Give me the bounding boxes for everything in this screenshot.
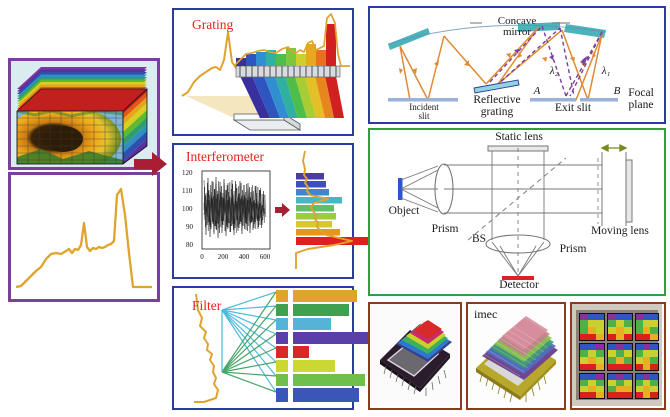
- svg-text:0: 0: [200, 253, 204, 261]
- grating-label: Grating: [192, 17, 233, 33]
- interferometer-label: Interferometer: [186, 149, 264, 165]
- incident-slit-label: Incident slit: [394, 103, 454, 121]
- imec-caption: imec: [474, 308, 514, 320]
- svg-text:80: 80: [186, 241, 194, 249]
- interferometer-optics-panel: Static lens Object Prism BS Moving lens …: [368, 128, 666, 296]
- spectral-signature-panel: [8, 172, 160, 302]
- grating-method-panel: Grating: [172, 8, 354, 136]
- exit-slit-label: Exit slit: [542, 103, 604, 115]
- moving-lens-element: [598, 152, 632, 226]
- transform-arrow: [275, 203, 290, 217]
- svg-text:120: 120: [182, 169, 193, 177]
- sensor-photo-1: [368, 302, 462, 410]
- mosaic-filter-array-photo: [572, 304, 662, 406]
- grating-element: [236, 66, 340, 77]
- static-lens-element: [488, 146, 548, 240]
- filter-method-panel: Filter: [172, 286, 354, 410]
- orange-ray-paths: [400, 28, 602, 100]
- mirror-leader-right: [552, 21, 570, 25]
- movement-arrow: [602, 145, 626, 151]
- concave-grating-spectrometer-panel: Concave mirror Incident slit Reflective …: [368, 6, 666, 124]
- concave-mirror-label: Concave mirror: [482, 16, 552, 38]
- filter-fan-lines-upper: [222, 292, 276, 392]
- mirror-leader-left: [470, 21, 482, 25]
- svg-text:100: 100: [182, 205, 193, 213]
- detector-label: Detector: [486, 280, 552, 292]
- lvf-sensor-photo: [370, 304, 458, 406]
- prism-left-label: Prism: [422, 224, 468, 236]
- svg-text:90: 90: [186, 223, 194, 231]
- object-label: Object: [378, 206, 430, 218]
- lambda-2-label: λ₂: [546, 66, 562, 77]
- spectral-signature-curve: [11, 175, 157, 299]
- svg-text:200: 200: [218, 253, 229, 261]
- binned-spectrum: [236, 24, 336, 66]
- beamsplitter-element: [468, 158, 566, 240]
- sensor-photo-2: imec: [466, 302, 566, 410]
- mosaic-tiles: [579, 313, 659, 399]
- recovered-spectrum-bars: [296, 173, 374, 245]
- sensor-photo-3: [570, 302, 666, 410]
- svg-text:600: 600: [260, 253, 271, 261]
- prism-bottom-label: Prism: [550, 244, 596, 256]
- filter-label: Filter: [192, 298, 221, 314]
- flow-arrow: [134, 150, 168, 180]
- reflective-grating-element: [474, 80, 519, 93]
- moving-lens-label: Moving lens: [578, 226, 662, 238]
- collimated-beam: [444, 165, 602, 213]
- interferometer-method-panel: Interferometer 120 110 100 90 80 0 200 4…: [172, 143, 354, 279]
- svg-text:400: 400: [239, 253, 250, 261]
- static-lens-label: Static lens: [482, 132, 556, 144]
- point-a-label: A: [532, 86, 542, 97]
- bs-label: BS: [466, 234, 492, 246]
- interferometer-chart-group: 120 110 100 90 80 0 200 400 600: [174, 165, 352, 277]
- reflective-grating-label: Reflective grating: [464, 95, 530, 118]
- lambda-1-label: λ₁: [598, 66, 614, 77]
- focal-plane-label: Focal plane: [618, 88, 664, 111]
- svg-text:110: 110: [182, 187, 193, 195]
